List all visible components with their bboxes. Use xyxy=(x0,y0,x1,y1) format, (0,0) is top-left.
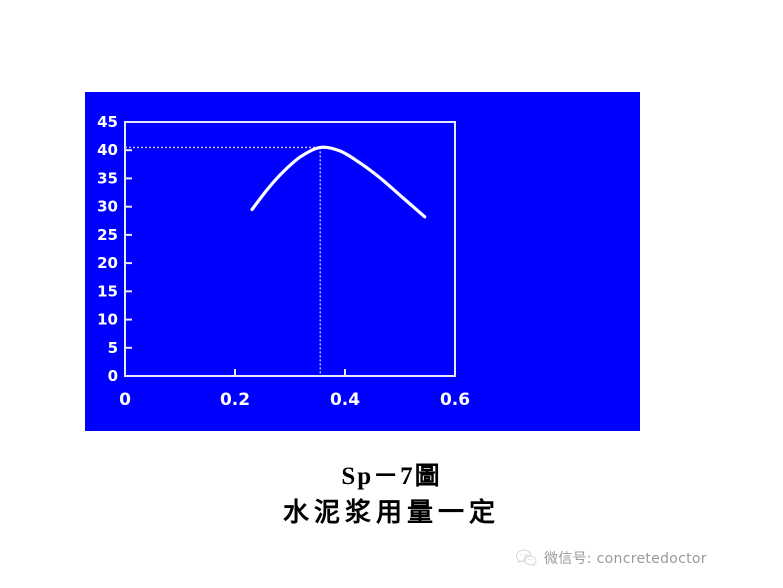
y-tick-label: 10 xyxy=(97,311,118,329)
x-tick-label: 0 xyxy=(119,390,131,410)
wechat-id-label: 微信号: concretedoctor xyxy=(544,548,707,568)
y-tick-label: 30 xyxy=(97,198,118,216)
wechat-footer: 微信号: concretedoctor xyxy=(515,543,775,573)
caption-title: Sp－7圖 xyxy=(0,462,783,492)
y-axis-labels: 0 5 10 15 20 25 30 35 40 45 xyxy=(97,113,118,385)
y-tick-label: 25 xyxy=(97,226,118,244)
caption-block: Sp－7圖 水泥浆用量一定 xyxy=(0,462,783,530)
y-tick-label: 5 xyxy=(108,339,118,357)
y-tick-label: 40 xyxy=(97,141,118,159)
wechat-icon xyxy=(515,548,537,568)
data-curve xyxy=(252,147,425,217)
y-tick-label: 35 xyxy=(97,169,118,187)
chart-panel: 0 5 10 15 20 25 30 35 40 45 0 0.2 0.4 0.… xyxy=(85,92,640,431)
y-tick-label: 45 xyxy=(97,113,118,131)
x-tick-label: 0.4 xyxy=(330,390,360,410)
line-chart: 0 5 10 15 20 25 30 35 40 45 0 0.2 0.4 0.… xyxy=(85,92,640,431)
x-axis-labels: 0 0.2 0.4 0.6 xyxy=(119,390,470,410)
peak-guide-lines xyxy=(125,147,320,376)
x-tick-label: 0.6 xyxy=(440,390,470,410)
y-tick-marks xyxy=(125,122,132,376)
x-tick-marks xyxy=(125,369,455,376)
y-tick-label: 15 xyxy=(97,282,118,300)
caption-subtitle: 水泥浆用量一定 xyxy=(0,496,783,530)
x-tick-label: 0.2 xyxy=(220,390,250,410)
y-tick-label: 0 xyxy=(108,367,118,385)
slide-canvas: 0 5 10 15 20 25 30 35 40 45 0 0.2 0.4 0.… xyxy=(0,0,783,588)
y-tick-label: 20 xyxy=(97,254,118,272)
plot-frame xyxy=(125,122,455,376)
